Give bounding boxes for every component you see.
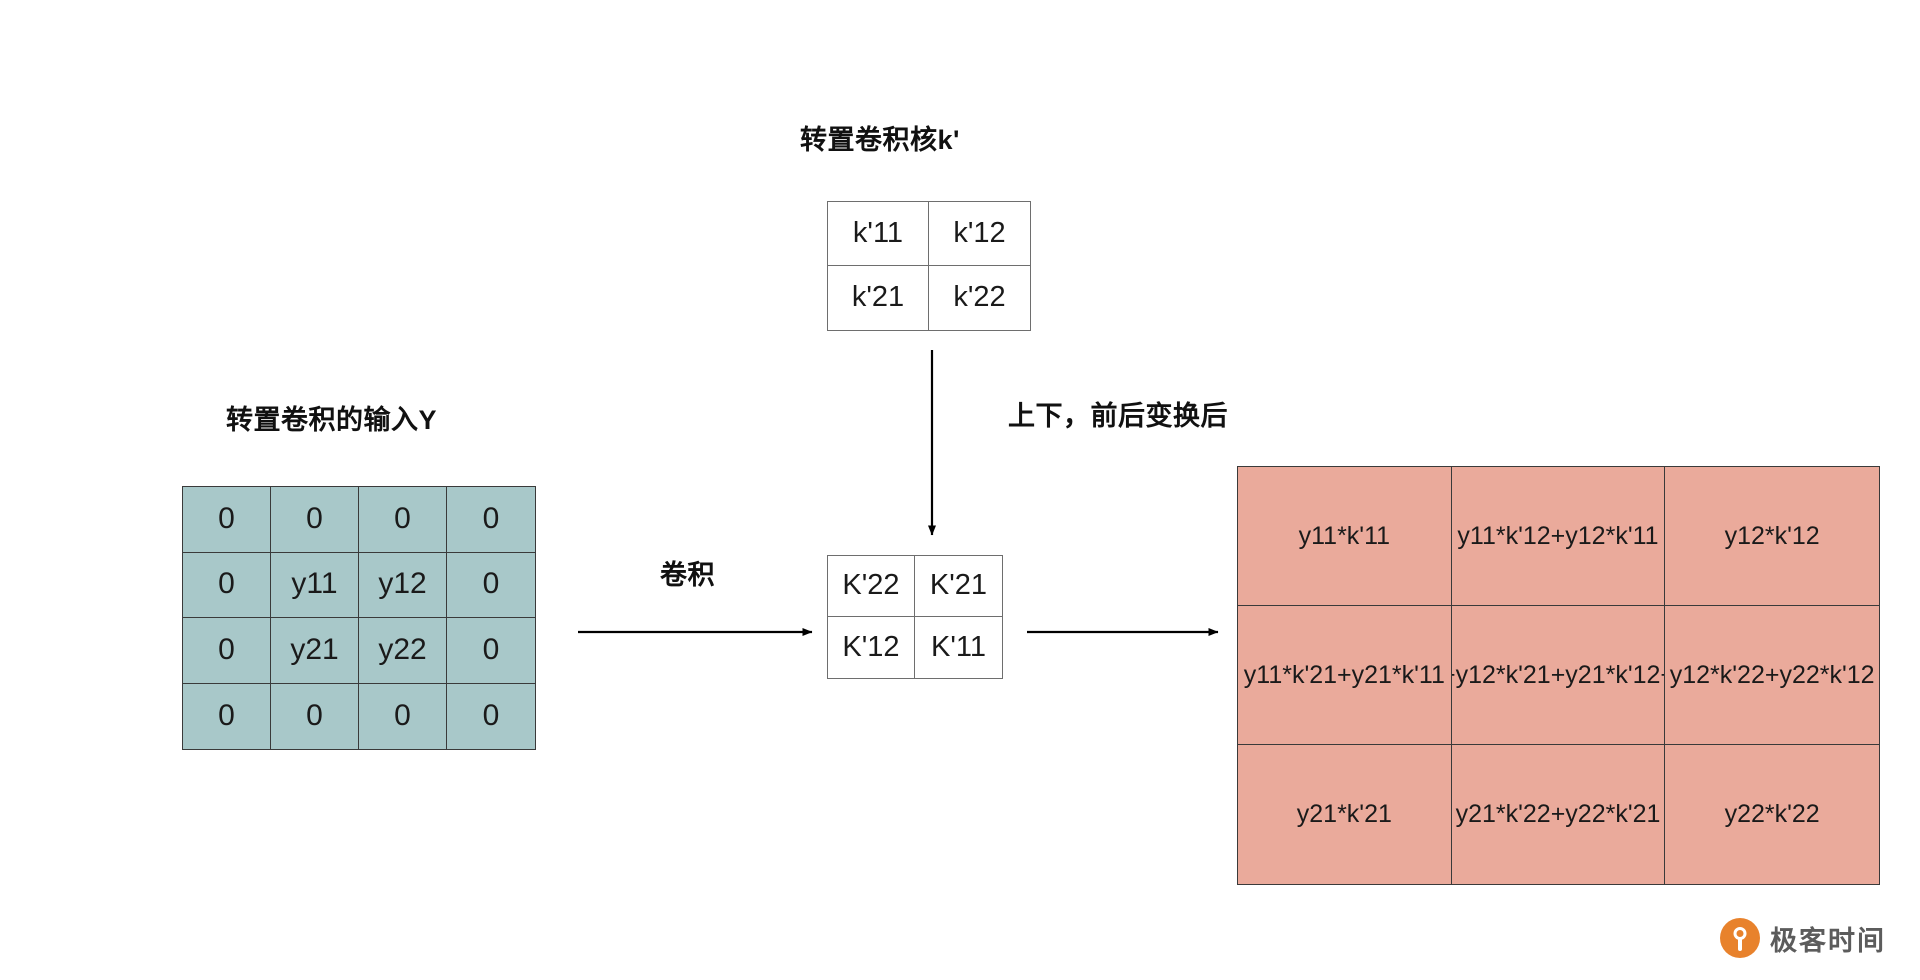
watermark-label: 极客时间 — [1770, 919, 1886, 958]
convolution-label: 卷积 — [660, 553, 715, 592]
input-cell: y21 — [271, 618, 359, 684]
input-matrix: 0 0 0 0 0 y11 y12 0 0 y21 y22 0 0 0 0 0 — [182, 486, 536, 750]
kernel-cell: k'12 — [929, 202, 1030, 266]
flipped-kernel-matrix: K'22 K'21 K'12 K'11 — [827, 555, 1003, 679]
output-cell: y21*k'22+y22*k'21 — [1452, 745, 1666, 884]
input-cell: y22 — [359, 618, 447, 684]
input-cell: 0 — [271, 487, 359, 553]
kernel-cell: k'11 — [828, 202, 929, 266]
kernel-matrix: k'11 k'12 k'21 k'22 — [827, 201, 1031, 331]
flipped-kernel-cell: K'12 — [828, 617, 915, 678]
output-matrix: y11*k'11 y11*k'12+y12*k'11 y12*k'12 y11*… — [1237, 466, 1880, 885]
geek-time-logo-icon — [1720, 918, 1760, 958]
input-cell: 0 — [447, 618, 535, 684]
diagram-canvas: 转置卷积核k' k'11 k'12 k'21 k'22 上下，前后变换后 转置卷… — [0, 0, 1920, 980]
input-cell: 0 — [183, 487, 271, 553]
flipped-kernel-cell: K'22 — [828, 556, 915, 617]
watermark: 极客时间 — [1720, 918, 1886, 958]
kernel-title: 转置卷积核k' — [800, 118, 960, 157]
output-cell: y11*k'22+y12*k'21+y21*k'12+y22*k'11 — [1452, 606, 1666, 745]
input-cell: 0 — [359, 487, 447, 553]
output-cell: y12*k'22+y22*k'12 — [1665, 606, 1879, 745]
input-cell: y11 — [271, 553, 359, 619]
input-cell: 0 — [447, 553, 535, 619]
input-cell: 0 — [271, 684, 359, 750]
output-cell: y11*k'11 — [1238, 467, 1452, 606]
flipped-kernel-cell: K'11 — [915, 617, 1002, 678]
output-cell: y11*k'12+y12*k'11 — [1452, 467, 1666, 606]
kernel-cell: k'22 — [929, 266, 1030, 330]
input-cell: y12 — [359, 553, 447, 619]
output-cell: y12*k'12 — [1665, 467, 1879, 606]
input-title: 转置卷积的输入Y — [226, 398, 437, 437]
input-cell: 0 — [447, 684, 535, 750]
input-cell: 0 — [359, 684, 447, 750]
input-cell: 0 — [183, 618, 271, 684]
input-cell: 0 — [183, 684, 271, 750]
flipped-kernel-cell: K'21 — [915, 556, 1002, 617]
transform-label: 上下，前后变换后 — [1008, 394, 1228, 433]
input-cell: 0 — [183, 553, 271, 619]
input-cell: 0 — [447, 487, 535, 553]
output-cell: y22*k'22 — [1665, 745, 1879, 884]
output-cell: y11*k'21+y21*k'11 — [1238, 606, 1452, 745]
output-cell: y21*k'21 — [1238, 745, 1452, 884]
kernel-cell: k'21 — [828, 266, 929, 330]
